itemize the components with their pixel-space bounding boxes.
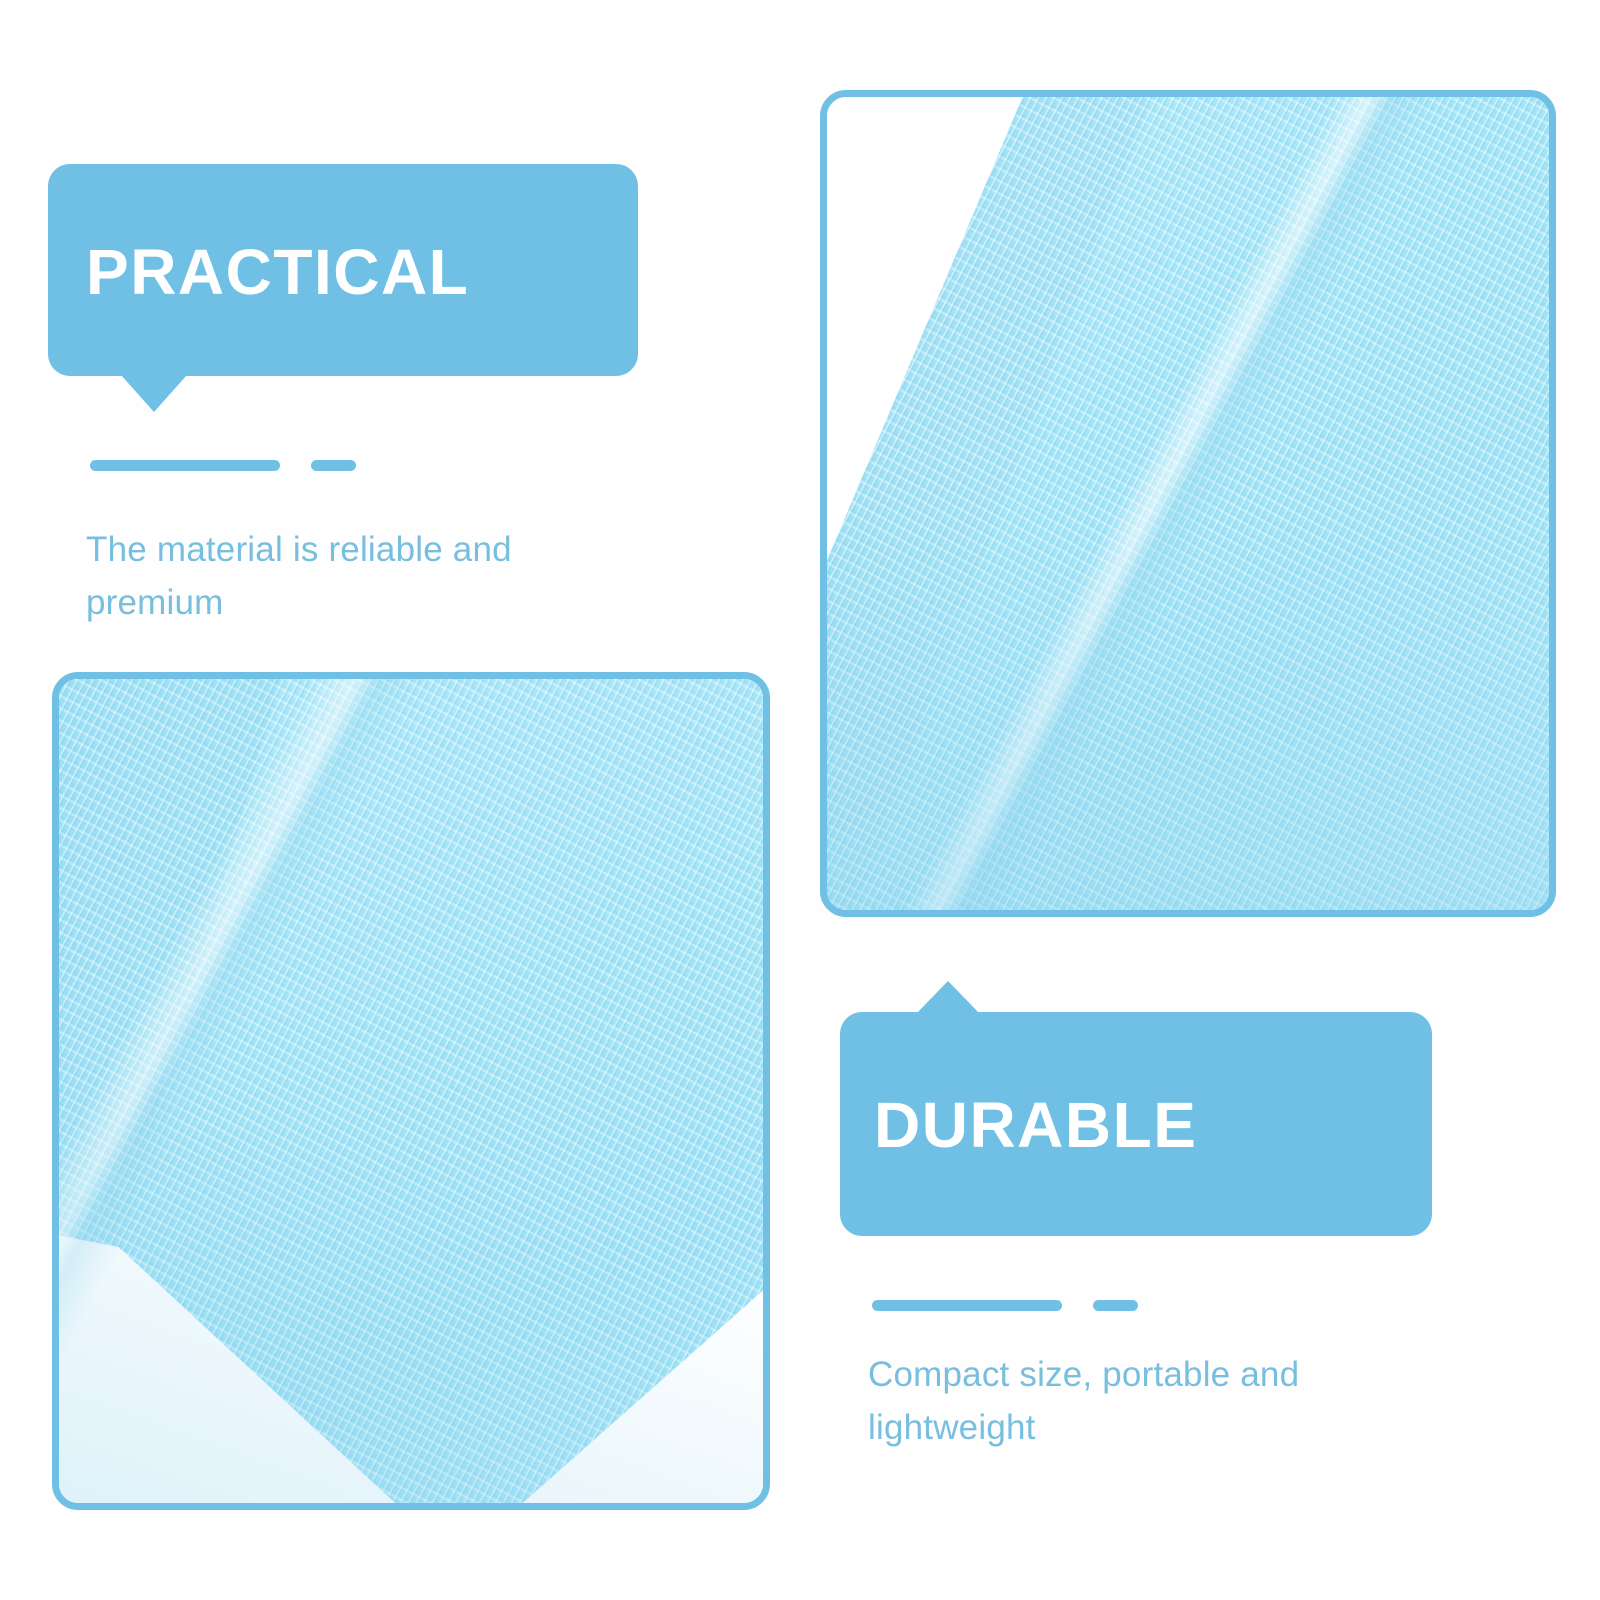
durable-callout-bubble: DURABLE [840, 1012, 1432, 1236]
durable-bubble-tail-icon [915, 981, 981, 1015]
durable-title: DURABLE [874, 1093, 1197, 1157]
practical-title: PRACTICAL [86, 240, 469, 304]
divider-dash-short-icon [1093, 1300, 1138, 1311]
practical-divider [90, 460, 356, 471]
divider-dash-long-icon [872, 1300, 1062, 1311]
divider-dash-short-icon [311, 460, 356, 471]
photo-canvas [827, 97, 1549, 910]
product-photo-bottom-left [52, 672, 770, 1510]
photo-canvas [59, 679, 763, 1503]
practical-description: The material is reliable and premium [86, 523, 606, 629]
durable-description: Compact size, portable and lightweight [868, 1348, 1398, 1454]
durable-divider [872, 1300, 1138, 1311]
practical-callout-bubble: PRACTICAL [48, 164, 638, 376]
divider-dash-long-icon [90, 460, 280, 471]
practical-bubble-tail-icon [121, 375, 187, 412]
product-photo-top-right [820, 90, 1556, 917]
infographic-canvas: PRACTICAL The material is reliable and p… [0, 0, 1600, 1600]
